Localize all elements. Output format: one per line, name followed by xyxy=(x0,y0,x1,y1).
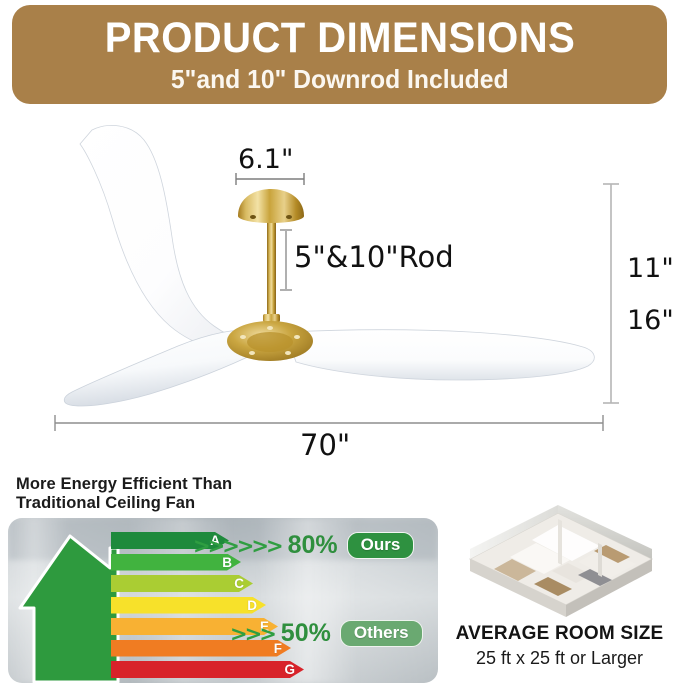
room-size-subtitle: 25 ft x 25 ft or Larger xyxy=(440,648,679,669)
energy-bar-g: G xyxy=(111,661,304,678)
canopy-screw-right xyxy=(286,215,292,219)
banner-subtitle: 5"and 10" Downrod Included xyxy=(171,64,509,94)
downrod xyxy=(267,222,276,318)
energy-bar-c: C xyxy=(111,575,253,592)
infographic-root: PRODUCT DIMENSIONS 5"and 10" Downrod Inc… xyxy=(0,0,679,689)
energy-card-content: ABCDEFG >>>>>> 80% Ours >>> 50% Others xyxy=(8,518,438,683)
interior-wall-strip xyxy=(598,543,602,577)
energy-bar-grade-label: D xyxy=(247,598,257,613)
product-dimensions-banner: PRODUCT DIMENSIONS 5"and 10" Downrod Inc… xyxy=(12,5,667,104)
badge-ours: Ours xyxy=(347,532,415,559)
height-label-11: 11" xyxy=(627,253,674,284)
energy-efficiency-card: ABCDEFG >>>>>> 80% Ours >>> 50% Others xyxy=(8,518,438,683)
canopy-base-ring xyxy=(238,209,304,223)
wall-divider-vertical xyxy=(558,519,562,565)
energy-bar-grade-label: C xyxy=(234,576,244,591)
blade-span-label: 70" xyxy=(300,428,350,462)
efficiency-heading-line2: Traditional Ceiling Fan xyxy=(16,494,232,513)
percent-ours: 80% xyxy=(288,531,338,560)
energy-bar-grade-label: G xyxy=(284,662,295,677)
energy-bar-shape xyxy=(111,597,266,614)
badge-others: Others xyxy=(340,620,423,647)
energy-bar-shape xyxy=(111,661,304,678)
efficiency-heading-line1: More Energy Efficient Than xyxy=(16,475,232,494)
height-label-16: 16" xyxy=(627,305,674,336)
efficiency-row-others: >>> 50% Others xyxy=(230,619,423,648)
house-icon xyxy=(14,530,124,683)
chevrons-others: >>> xyxy=(230,622,274,646)
ceiling-fan-diagram: 6.1" 5"&10"Rod 11" 16" 70" xyxy=(0,104,679,464)
chevrons-ours: >>>>>> xyxy=(193,534,281,558)
floor-plan-illustration xyxy=(440,505,679,623)
percent-others: 50% xyxy=(281,619,331,648)
motor-hub-screw-3 xyxy=(249,351,255,355)
motor-hub-screw-5 xyxy=(267,326,273,330)
rod-length-label: 5"&10"Rod xyxy=(294,240,454,274)
motor-hub-screw-2 xyxy=(294,335,300,339)
efficiency-heading: More Energy Efficient Than Traditional C… xyxy=(16,475,232,513)
efficiency-row-ours: >>>>>> 80% Ours xyxy=(193,531,414,560)
fan-illustration-svg xyxy=(0,104,679,464)
motor-hub-inner xyxy=(247,332,293,352)
average-room-size-section: AVERAGE ROOM SIZE 25 ft x 25 ft or Large… xyxy=(440,505,679,689)
rod-length-dimension xyxy=(280,230,292,290)
energy-bar-shape xyxy=(111,575,253,592)
canopy-screw-left xyxy=(250,215,256,219)
banner-title: PRODUCT DIMENSIONS xyxy=(104,16,575,60)
motor-hub-screw-4 xyxy=(285,351,291,355)
energy-bar-d: D xyxy=(111,597,266,614)
fan-height-dimension xyxy=(603,184,619,403)
canopy-width-label: 6.1" xyxy=(238,144,293,175)
room-size-title: AVERAGE ROOM SIZE xyxy=(440,623,679,645)
downrod-collar xyxy=(263,314,280,322)
motor-hub-screw-1 xyxy=(240,335,246,339)
fan-blade-right xyxy=(286,330,594,380)
